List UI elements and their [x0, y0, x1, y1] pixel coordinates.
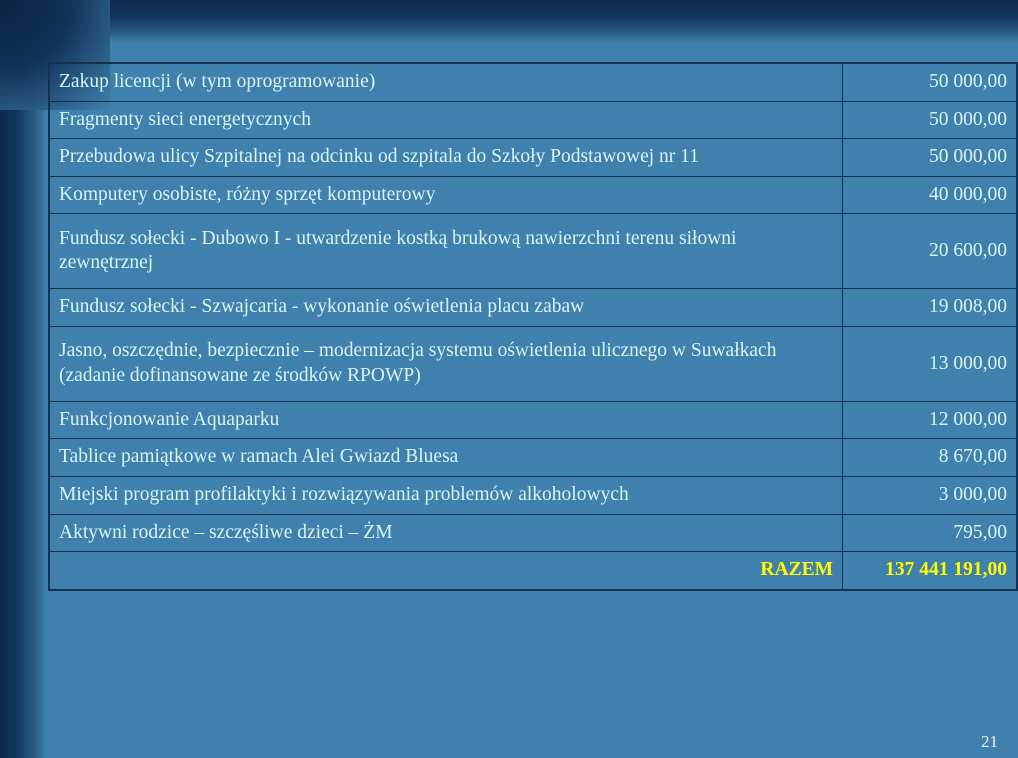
budget-item-label: Jasno, oszczędnie, bezpiecznie – moderni… — [49, 326, 843, 401]
table-row: Fragmenty sieci energetycznych50 000,00 — [49, 101, 1017, 139]
table-row: Tablice pamiątkowe w ramach Alei Gwiazd … — [49, 439, 1017, 477]
table-row: Zakup licencji (w tym oprogramowanie)50 … — [49, 63, 1017, 101]
total-label: RAZEM — [49, 552, 843, 590]
table-row: Funkcjonowanie Aquaparku12 000,00 — [49, 401, 1017, 439]
budget-item-label: Fundusz sołecki - Dubowo I - utwardzenie… — [49, 214, 843, 289]
budget-item-label: Tablice pamiątkowe w ramach Alei Gwiazd … — [49, 439, 843, 477]
table-row-total: RAZEM137 441 191,00 — [49, 552, 1017, 590]
budget-item-label: Komputery osobiste, różny sprzęt kompute… — [49, 176, 843, 214]
budget-table: Zakup licencji (w tym oprogramowanie)50 … — [48, 62, 1018, 591]
table-row: Aktywni rodzice – szczęśliwe dzieci – ŻM… — [49, 514, 1017, 552]
budget-item-amount: 3 000,00 — [843, 476, 1018, 514]
slide-left-border-decoration — [0, 0, 46, 758]
table-row: Miejski program profilaktyki i rozwiązyw… — [49, 476, 1017, 514]
budget-item-label: Przebudowa ulicy Szpitalnej na odcinku o… — [49, 139, 843, 177]
budget-item-amount: 50 000,00 — [843, 139, 1018, 177]
table-row: Fundusz sołecki - Szwajcaria - wykonanie… — [49, 289, 1017, 327]
table-row: Przebudowa ulicy Szpitalnej na odcinku o… — [49, 139, 1017, 177]
budget-item-amount: 20 600,00 — [843, 214, 1018, 289]
total-amount: 137 441 191,00 — [843, 552, 1018, 590]
budget-item-label: Fragmenty sieci energetycznych — [49, 101, 843, 139]
slide-canvas: Zakup licencji (w tym oprogramowanie)50 … — [0, 0, 1018, 758]
budget-item-amount: 19 008,00 — [843, 289, 1018, 327]
budget-item-amount: 12 000,00 — [843, 401, 1018, 439]
budget-item-amount: 50 000,00 — [843, 101, 1018, 139]
budget-item-amount: 50 000,00 — [843, 63, 1018, 101]
table-row: Fundusz sołecki - Dubowo I - utwardzenie… — [49, 214, 1017, 289]
table-row: Komputery osobiste, różny sprzęt kompute… — [49, 176, 1017, 214]
budget-item-amount: 795,00 — [843, 514, 1018, 552]
budget-item-amount: 8 670,00 — [843, 439, 1018, 477]
slide-top-border-decoration — [0, 0, 1018, 42]
page-number: 21 — [981, 732, 998, 752]
budget-table-body: Zakup licencji (w tym oprogramowanie)50 … — [49, 63, 1017, 590]
budget-item-label: Miejski program profilaktyki i rozwiązyw… — [49, 476, 843, 514]
budget-item-label: Fundusz sołecki - Szwajcaria - wykonanie… — [49, 289, 843, 327]
budget-item-label: Aktywni rodzice – szczęśliwe dzieci – ŻM — [49, 514, 843, 552]
budget-item-amount: 40 000,00 — [843, 176, 1018, 214]
table-row: Jasno, oszczędnie, bezpiecznie – moderni… — [49, 326, 1017, 401]
budget-item-label: Zakup licencji (w tym oprogramowanie) — [49, 63, 843, 101]
budget-item-label: Funkcjonowanie Aquaparku — [49, 401, 843, 439]
budget-item-amount: 13 000,00 — [843, 326, 1018, 401]
